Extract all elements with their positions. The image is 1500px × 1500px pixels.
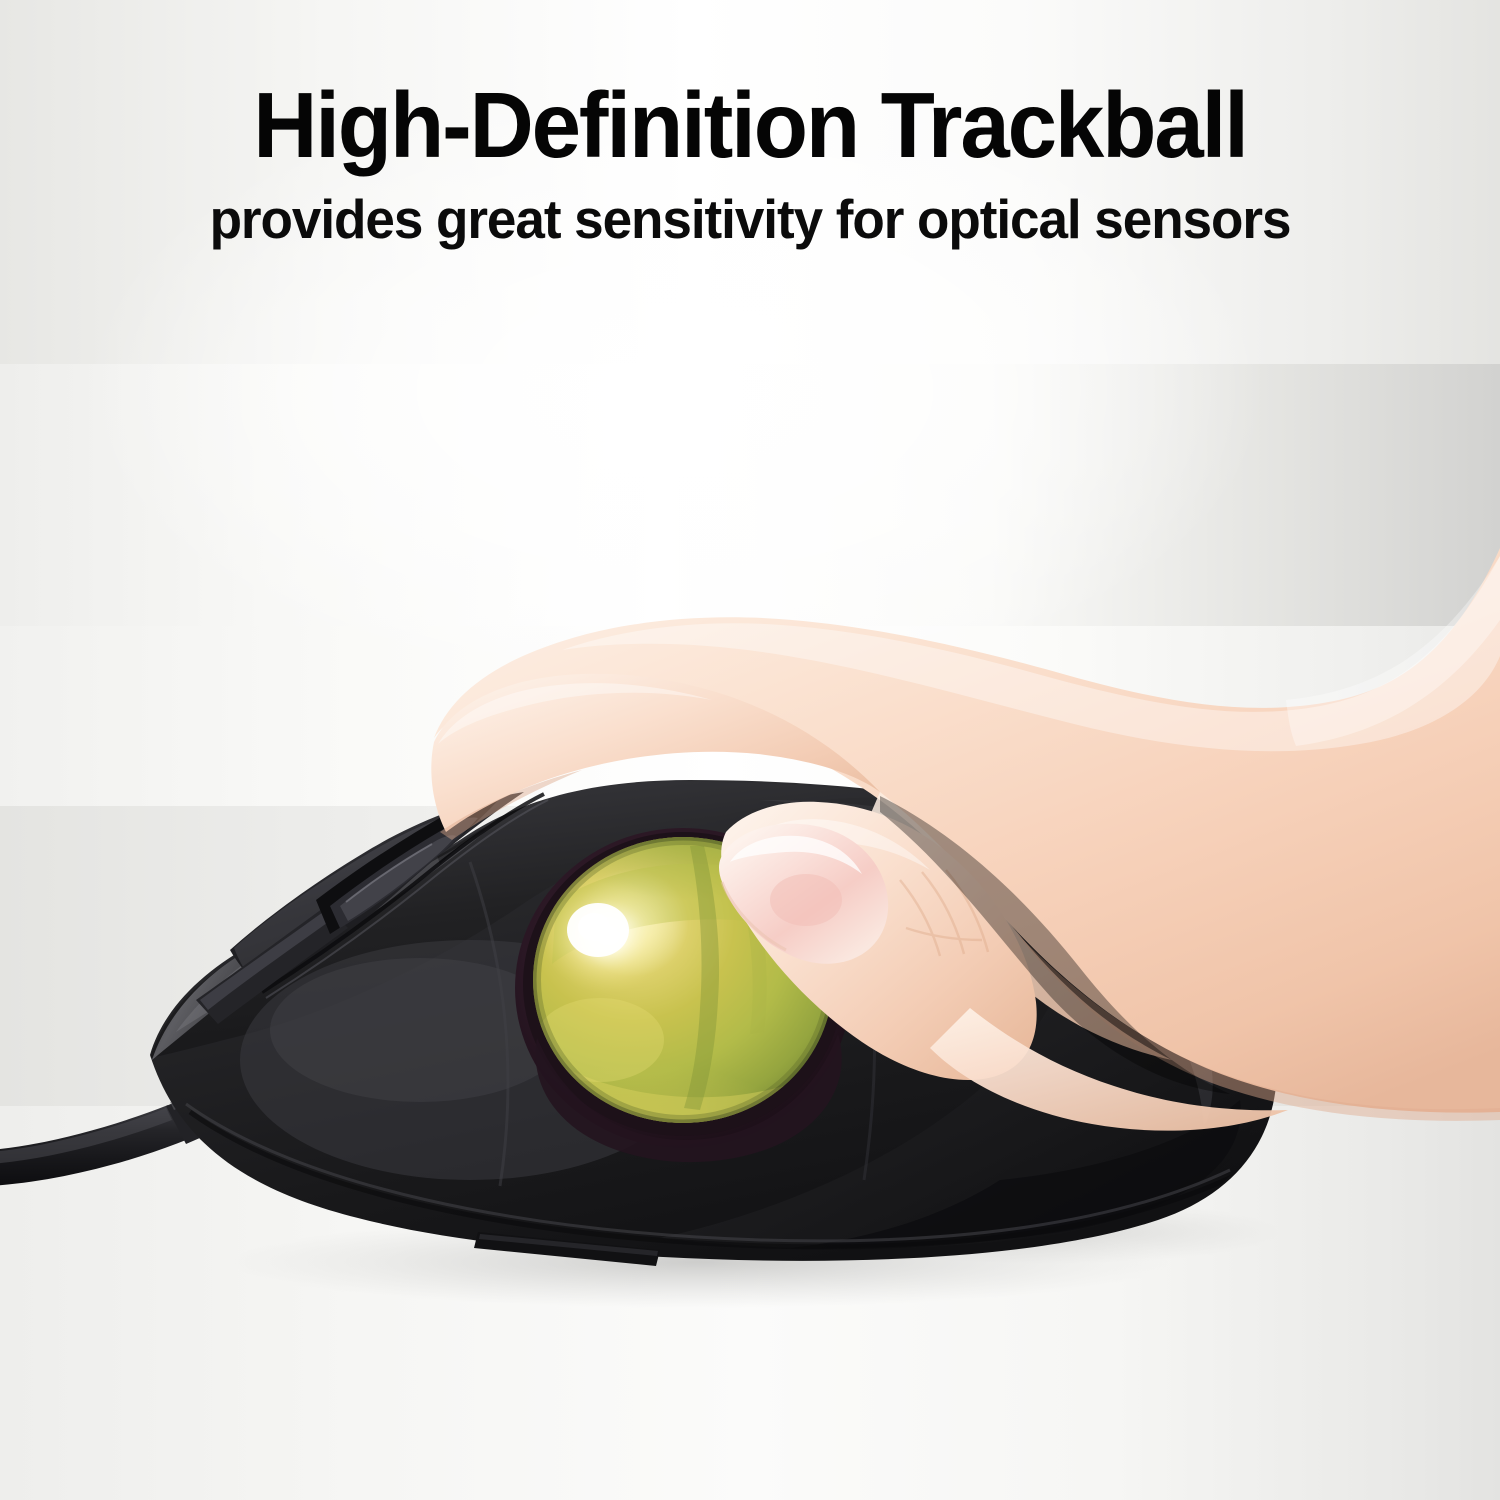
page-subtitle: provides great sensitivity for optical s… (26, 191, 1474, 249)
product-feature-banner: High-Definition Trackball provides great… (0, 0, 1500, 1500)
headline-block: High-Definition Trackball provides great… (0, 78, 1500, 249)
usb-cable (0, 1105, 186, 1186)
page-title: High-Definition Trackball (34, 78, 1467, 173)
